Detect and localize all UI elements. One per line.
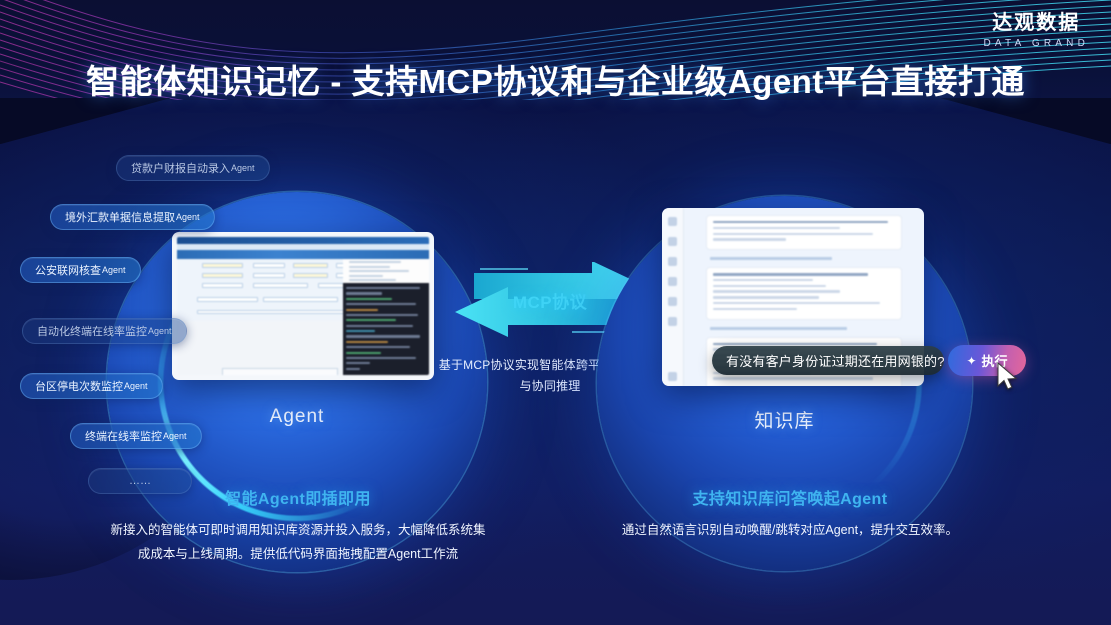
agent-tag-chip[interactable]: 贷款户财报自动录入Agent bbox=[116, 155, 270, 181]
agent-tag-chip[interactable]: 自动化终端在线率监控Agent bbox=[22, 318, 187, 344]
query-text: 有没有客户身份证过期还在用网银的? bbox=[726, 351, 945, 370]
agent-tag-chip[interactable]: 台区停电次数监控Agent bbox=[20, 373, 163, 399]
chip-label: 台区停电次数监控 bbox=[35, 378, 123, 394]
knowledge-base-sphere-label: 知识库 bbox=[597, 406, 972, 433]
chip-suffix: Agent bbox=[102, 265, 126, 275]
feature-body: 通过自然语言识别自动唤醒/跳转对应Agent，提升交互效率。 bbox=[600, 518, 980, 542]
brand-name-en: DATA GRAND bbox=[983, 38, 1089, 49]
feature-title: 智能Agent即插即用 bbox=[108, 485, 488, 509]
feature-body: 新接入的智能体可即时调用知识库资源并投入服务，大幅降低系统集成成本与上线周期。提… bbox=[108, 518, 488, 567]
chip-suffix: Agent bbox=[148, 326, 172, 336]
chip-suffix: Agent bbox=[124, 381, 148, 391]
page-title: 智能体知识记忆 - 支持MCP协议和与企业级Agent平台直接打通 bbox=[0, 55, 1111, 103]
feature-block-left: 智能Agent即插即用 新接入的智能体可即时调用知识库资源并投入服务，大幅降低系… bbox=[108, 485, 488, 567]
brand-logo: 达观数据 DATA GRAND bbox=[983, 12, 1089, 49]
chip-suffix: Agent bbox=[163, 431, 187, 441]
agent-tag-chip[interactable]: 公安联网核查Agent bbox=[20, 257, 141, 283]
chip-suffix: Agent bbox=[231, 163, 255, 173]
agent-tag-chip[interactable]: 终端在线率监控Agent bbox=[70, 423, 202, 449]
brand-name-cn: 达观数据 bbox=[983, 12, 1089, 34]
agent-tag-chip[interactable]: 境外汇款单据信息提取Agent bbox=[50, 204, 215, 230]
chat-sidebar-rail bbox=[662, 208, 684, 386]
chip-label: 公安联网核查 bbox=[35, 262, 101, 278]
feature-title: 支持知识库问答唤起Agent bbox=[600, 485, 980, 509]
chip-label: 终端在线率监控 bbox=[85, 428, 162, 444]
header-band-left bbox=[0, 98, 170, 144]
terminal-panel bbox=[343, 283, 429, 375]
chip-suffix: Agent bbox=[176, 212, 200, 222]
feature-block-right: 支持知识库问答唤起Agent 通过自然语言识别自动唤醒/跳转对应Agent，提升… bbox=[600, 485, 980, 542]
chip-label: 自动化终端在线率监控 bbox=[37, 323, 147, 339]
query-input[interactable]: 有没有客户身份证过期还在用网银的? bbox=[712, 346, 944, 375]
agent-app-screenshot bbox=[172, 232, 434, 380]
chip-label: 境外汇款单据信息提取 bbox=[65, 209, 175, 225]
sparkle-icon: ✦ bbox=[966, 355, 976, 367]
chip-label: 贷款户财报自动录入 bbox=[131, 160, 230, 176]
header-band-right bbox=[941, 98, 1111, 144]
slide-canvas: 达观数据 DATA GRAND 智能体知识记忆 - 支持MCP协议和与企业级Ag… bbox=[0, 0, 1111, 625]
